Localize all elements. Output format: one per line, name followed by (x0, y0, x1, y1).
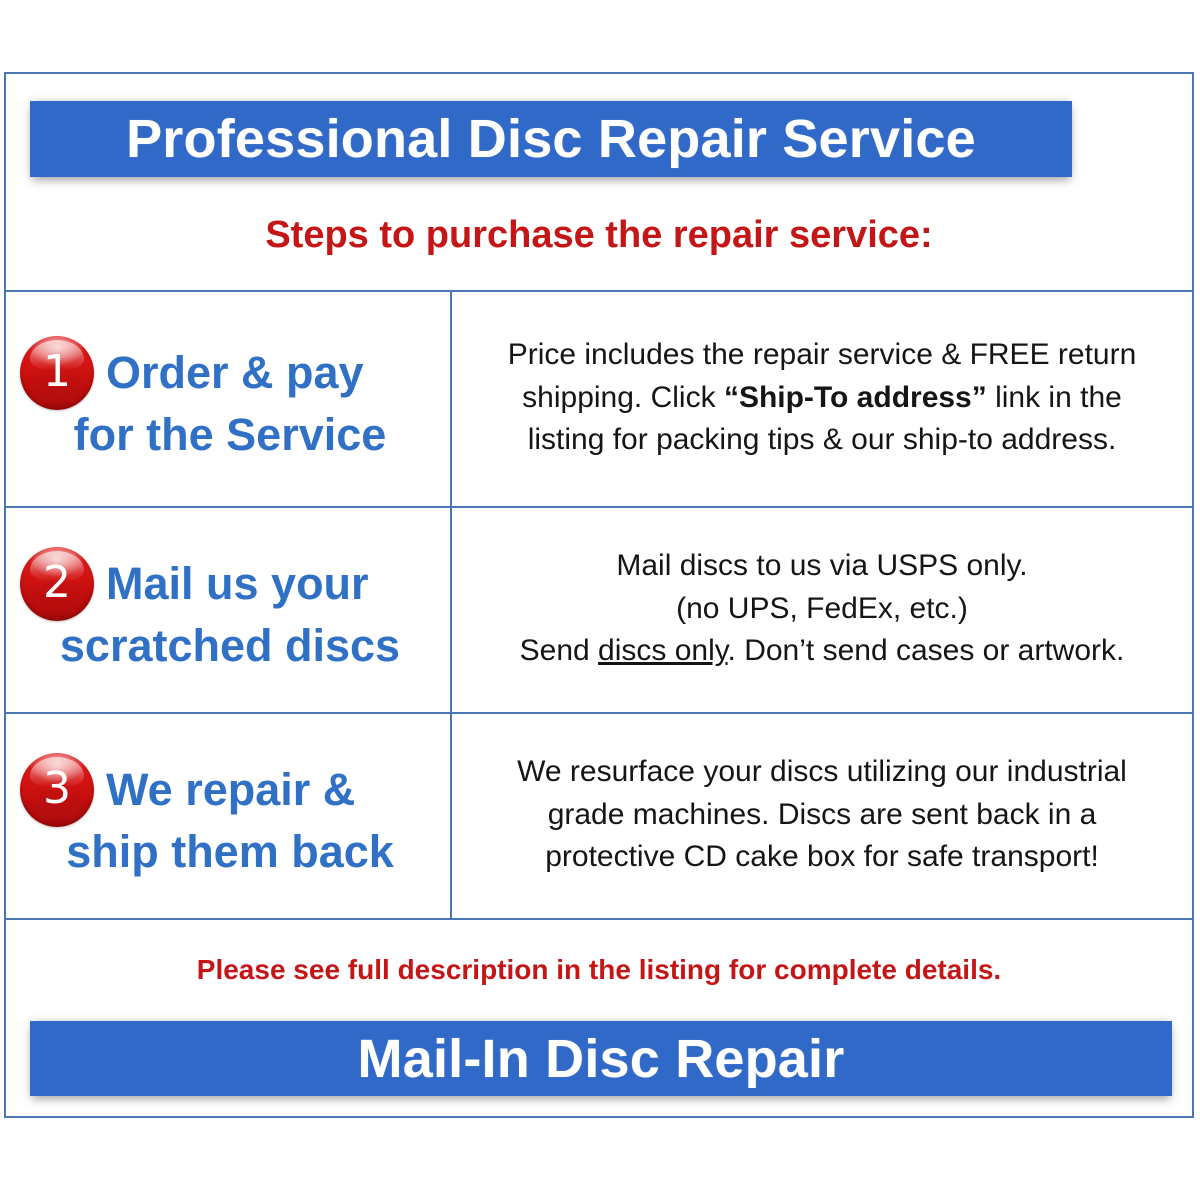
step-number-badge-3: 3 (20, 753, 94, 827)
emphasis-bold: “Ship-To address” (724, 381, 987, 414)
divider-below-step-3 (6, 918, 1192, 920)
detail-text: link in the (987, 381, 1122, 414)
detail-text: Price includes the repair service & FREE… (508, 338, 1137, 371)
detail-line: Send discs only. Don’t send cases or art… (468, 630, 1176, 673)
detail-text: . Don’t send cases or artwork. (728, 634, 1125, 667)
step-3-title-line-2: ship them back (10, 827, 444, 877)
detail-text: Send (520, 634, 598, 667)
step-1-detail-cell: Price includes the repair service & FREE… (450, 290, 1192, 506)
step-2-title-cell: 2 Mail us your scratched discs (6, 506, 450, 712)
header-banner-title: Professional Disc Repair Service (126, 108, 976, 170)
step-2-title-line-1: Mail us your (106, 559, 369, 609)
poster-root: Professional Disc Repair Service Steps t… (0, 0, 1200, 1200)
detail-line: shipping. Click “Ship-To address” link i… (468, 377, 1176, 420)
step-number-badge-1: 1 (20, 336, 94, 410)
step-number-badge-2: 2 (20, 547, 94, 621)
detail-line: listing for packing tips & our ship-to a… (468, 419, 1176, 462)
steps-subheading: Steps to purchase the repair service: (6, 214, 1192, 257)
detail-text: (no UPS, FedEx, etc.) (676, 592, 968, 625)
detail-text: Mail discs to us via USPS only. (616, 549, 1027, 582)
step-2-detail-cell: Mail discs to us via USPS only.(no UPS, … (450, 506, 1192, 712)
detail-line: protective CD cake box for safe transpor… (468, 836, 1176, 879)
step-2-title: 2 Mail us your scratched discs (10, 547, 444, 671)
step-row-2: 2 Mail us your scratched discs Mail disc… (6, 506, 1192, 712)
step-3-title-line-1: We repair & (106, 765, 355, 815)
header-banner: Professional Disc Repair Service (30, 101, 1072, 177)
detail-line: We resurface your discs utilizing our in… (468, 751, 1176, 794)
detail-line: Mail discs to us via USPS only. (468, 545, 1176, 588)
detail-text: listing for packing tips & our ship-to a… (528, 423, 1117, 456)
step-3-detail-cell: We resurface your discs utilizing our in… (450, 712, 1192, 918)
step-1-title-line-1: Order & pay (106, 348, 364, 398)
step-row-3: 3 We repair & ship them back We resurfac… (6, 712, 1192, 918)
step-3-title: 3 We repair & ship them back (10, 753, 444, 877)
detail-text: grade machines. Discs are sent back in a (548, 798, 1097, 831)
detail-text: protective CD cake box for safe transpor… (545, 840, 1099, 873)
step-number-3: 3 (43, 767, 71, 811)
step-3-title-cell: 3 We repair & ship them back (6, 712, 450, 918)
detail-text: We resurface your discs utilizing our in… (517, 755, 1127, 788)
step-1-title-cell: 1 Order & pay for the Service (6, 290, 450, 506)
detail-text: shipping. Click (522, 381, 724, 414)
footer-banner-title: Mail-In Disc Repair (358, 1028, 845, 1090)
step-1-title-line-2: for the Service (10, 410, 444, 460)
step-2-title-line-2: scratched discs (10, 621, 444, 671)
footer-note: Please see full description in the listi… (6, 954, 1192, 986)
step-1-title: 1 Order & pay for the Service (10, 336, 444, 460)
emphasis-underline: discs only (598, 634, 728, 667)
footer-banner: Mail-In Disc Repair (30, 1021, 1172, 1096)
step-row-1: 1 Order & pay for the Service Price incl… (6, 290, 1192, 506)
detail-line: grade machines. Discs are sent back in a (468, 794, 1176, 837)
detail-line: Price includes the repair service & FREE… (468, 334, 1176, 377)
poster-card: Professional Disc Repair Service Steps t… (4, 72, 1194, 1118)
step-number-1: 1 (43, 350, 71, 394)
detail-line: (no UPS, FedEx, etc.) (468, 588, 1176, 631)
step-number-2: 2 (43, 561, 71, 605)
